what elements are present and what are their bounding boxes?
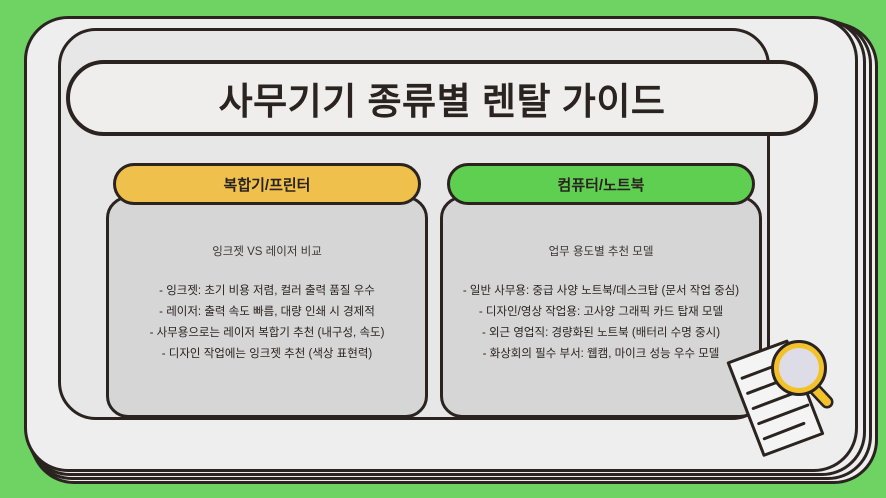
slide-canvas: 사무기기 종류별 렌탈 가이드 잉크젯 VS 레이저 비교 - 잉크젯: 초기 … — [0, 0, 886, 498]
list-item: - 잉크젯: 초기 비용 저렴, 컬러 출력 품질 우수 — [119, 281, 415, 302]
list-item: - 레이저: 출력 속도 빠름, 대량 인쇄 시 경제적 — [119, 302, 415, 323]
card-computer-body: 업무 용도별 추천 모델 - 일반 사무용: 중급 사양 노트북/데스크탑 (문… — [443, 199, 759, 415]
list-item: - 화상회의 필수 부서: 웹캠, 마이크 성능 우수 모델 — [453, 344, 749, 365]
card-printer-subtitle: 잉크젯 VS 레이저 비교 — [212, 243, 322, 259]
card-printer: 잉크젯 VS 레이저 비교 - 잉크젯: 초기 비용 저렴, 컬러 출력 품질 … — [106, 196, 428, 418]
card-computer: 업무 용도별 추천 모델 - 일반 사무용: 중급 사양 노트북/데스크탑 (문… — [440, 196, 762, 418]
document-magnifier-icon — [726, 330, 846, 460]
list-item: - 사무용으로는 레이저 복합기 추천 (내구성, 속도) — [119, 323, 415, 344]
card-computer-header-label: 컴퓨터/노트북 — [558, 174, 645, 195]
list-item: - 외근 영업직: 경량화된 노트북 (배터리 수명 중시) — [453, 323, 749, 344]
page-title: 사무기기 종류별 렌탈 가이드 — [219, 71, 666, 125]
card-computer-subtitle: 업무 용도별 추천 모델 — [549, 243, 654, 259]
list-item: - 디자인 작업에는 잉크젯 추천 (색상 표현력) — [119, 344, 415, 365]
card-computer-bullet-list: - 일반 사무용: 중급 사양 노트북/데스크탑 (문서 작업 중심) - 디자… — [453, 281, 749, 365]
card-printer-header-label: 복합기/프린터 — [224, 174, 311, 195]
card-printer-bullet-list: - 잉크젯: 초기 비용 저렴, 컬러 출력 품질 우수 - 레이저: 출력 속… — [119, 281, 415, 365]
card-computer-header: 컴퓨터/노트북 — [447, 163, 755, 205]
title-pill: 사무기기 종류별 렌탈 가이드 — [66, 60, 818, 136]
card-printer-header: 복합기/프린터 — [113, 163, 421, 205]
card-printer-body: 잉크젯 VS 레이저 비교 - 잉크젯: 초기 비용 저렴, 컬러 출력 품질 … — [109, 199, 425, 415]
list-item: - 일반 사무용: 중급 사양 노트북/데스크탑 (문서 작업 중심) — [453, 281, 749, 302]
list-item: - 디자인/영상 작업용: 고사양 그래픽 카드 탑재 모델 — [453, 302, 749, 323]
